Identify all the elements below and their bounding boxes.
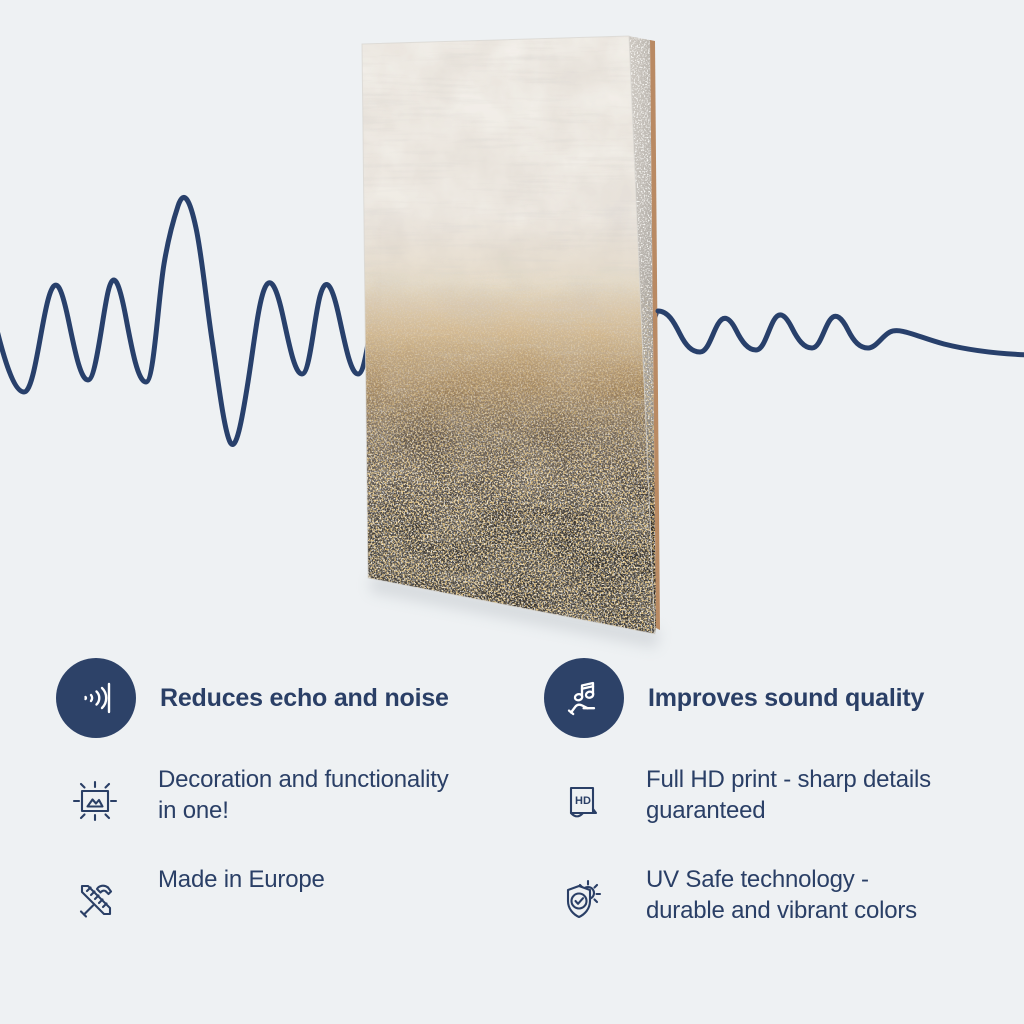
- feature-label-line: durable and vibrant colors: [646, 895, 917, 926]
- canvas-front-face: [362, 36, 655, 634]
- canvas-outline: [362, 36, 655, 634]
- feature-improves-sound-quality[interactable]: Improves sound quality: [512, 636, 1024, 760]
- feature-list: Reduces echo and noise: [0, 636, 1024, 960]
- feature-label-line: Full HD print - sharp details: [646, 764, 931, 795]
- feature-label-line: Decoration and functionality: [158, 764, 449, 795]
- sound-wave-left-path: [0, 197, 656, 444]
- shield-sun-icon: [544, 862, 622, 940]
- ruler-hammer-icon: [56, 862, 134, 940]
- feature-decoration-and-functionality[interactable]: Decoration and functionality in one!: [0, 760, 512, 860]
- feature-label-line: UV Safe technology -: [646, 864, 917, 895]
- framed-picture-rays-icon: [56, 762, 134, 840]
- sound-wave-right-path: [658, 311, 1024, 355]
- sound-waves-icon: [56, 658, 136, 738]
- music-note-hand-icon: [544, 658, 624, 738]
- feature-label: UV Safe technology - durable and vibrant…: [646, 860, 917, 926]
- canvas-side-edge: [629, 36, 656, 634]
- feature-label-line: Made in Europe: [158, 864, 325, 895]
- feature-label: Made in Europe: [158, 860, 325, 895]
- feature-label: Decoration and functionality in one!: [158, 760, 449, 826]
- feature-label: Improves sound quality: [648, 683, 924, 713]
- feature-made-in-europe[interactable]: Made in Europe: [0, 860, 512, 960]
- feature-reduces-echo-and-noise[interactable]: Reduces echo and noise: [0, 636, 512, 760]
- hd-print-icon: HD: [544, 762, 622, 840]
- feature-uv-safe-technology[interactable]: UV Safe technology - durable and vibrant…: [512, 860, 1024, 960]
- feature-label-line: in one!: [158, 795, 449, 826]
- feature-label: Full HD print - sharp details guaranteed: [646, 760, 931, 826]
- feature-label: Reduces echo and noise: [160, 683, 449, 713]
- feature-full-hd-print[interactable]: HD Full HD print - sharp details guarant…: [512, 760, 1024, 860]
- svg-text:HD: HD: [575, 795, 591, 807]
- feature-grid: Reduces echo and noise: [0, 636, 1024, 960]
- canvas-wood-edge: [650, 40, 660, 630]
- infographic-stage: Reduces echo and noise: [0, 0, 1024, 1024]
- feature-label-line: guaranteed: [646, 795, 931, 826]
